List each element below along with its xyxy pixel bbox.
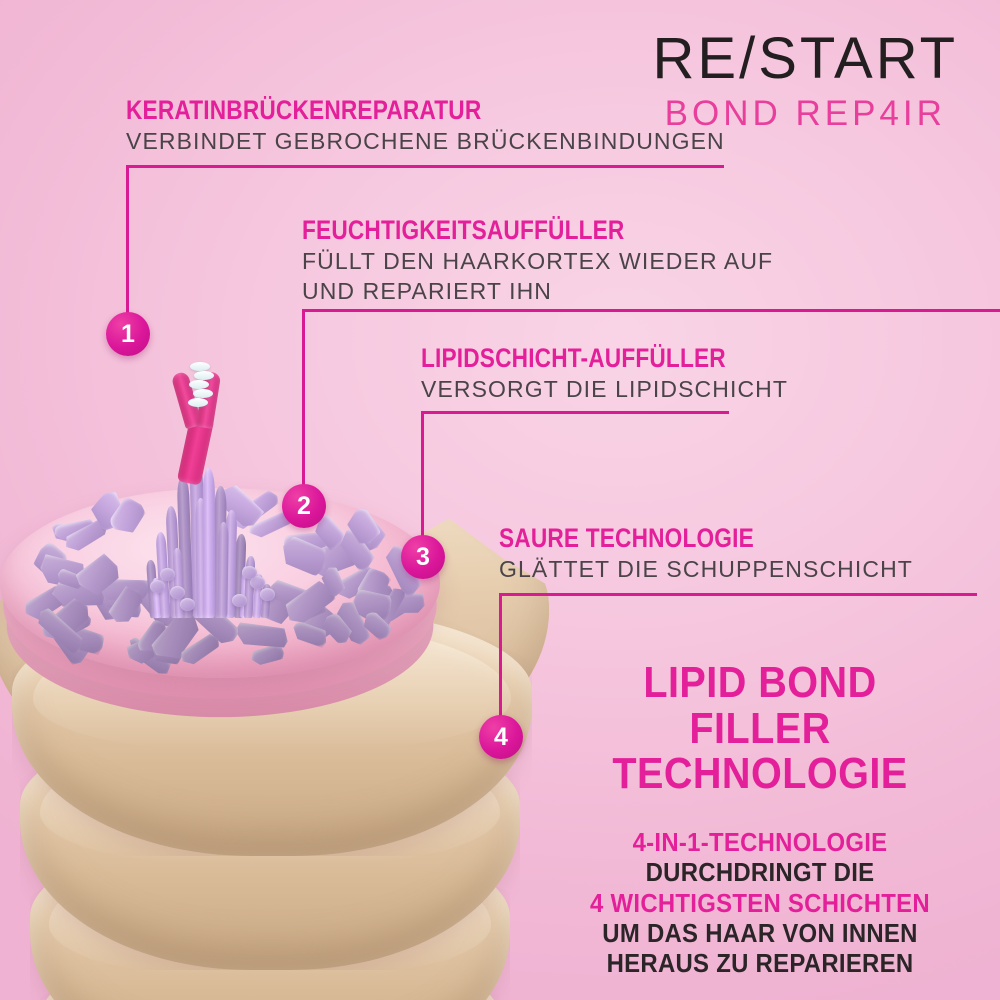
marker-1-number: 1	[121, 320, 135, 349]
keratin-fiber	[203, 468, 216, 618]
bottom-sub-line-1: 4-IN-1-TECHNOLOGIE	[576, 827, 944, 857]
bottom-heading-line-2: TECHNOLOGIE	[580, 751, 940, 797]
keratin-fiber	[217, 522, 228, 618]
bottom-text-block: LIPID BOND FILLER TECHNOLOGIE 4-IN-1-TEC…	[560, 660, 960, 978]
logo-tagline: BOND REP4IR	[653, 96, 958, 131]
marker-1[interactable]: 1	[106, 312, 150, 356]
callout-1-title: KERATINBRÜCKENREPARATUR	[126, 96, 629, 125]
callout-4-title: SAURE TECHNOLOGIE	[499, 524, 847, 553]
bottom-sub-line-5: HERAUS ZU REPARIEREN	[576, 948, 944, 978]
callout-3-desc-line-1: VERSORGT DIE LIPIDSCHICHT	[421, 376, 788, 403]
callout-2-desc-line-2: UND REPARIERT IHN	[302, 278, 773, 305]
callout-2: FEUCHTIGKEITSAUFFÜLLER FÜLLT DEN HAARKOR…	[302, 216, 773, 305]
callout-3-title: LIPIDSCHICHT-AUFFÜLLER	[421, 344, 729, 373]
callout-4-desc-line-1: GLÄTTET DIE SCHUPPENSCHICHT	[499, 556, 913, 583]
helix-bead	[190, 362, 210, 371]
marker-4-number: 4	[494, 723, 508, 752]
leader-line-3	[421, 411, 731, 535]
keratin-nodule	[260, 588, 275, 601]
keratin-nodule	[160, 568, 175, 581]
marker-3-number: 3	[416, 543, 430, 572]
spacer	[560, 797, 960, 827]
logo-wordmark: RE/START	[653, 30, 958, 88]
infographic-canvas: RE/START BOND REP4IR KERATINBRÜCKENREPAR…	[0, 0, 1000, 1000]
keratin-nodule	[180, 598, 195, 611]
broken-keratin-bond	[150, 360, 260, 490]
cortex-disc-stack	[0, 438, 460, 758]
marker-3[interactable]: 3	[401, 535, 445, 579]
marker-2-number: 2	[297, 492, 311, 521]
brand-logo: RE/START BOND REP4IR	[653, 30, 958, 131]
callout-3: LIPIDSCHICHT-AUFFÜLLER VERSORGT DIE LIPI…	[421, 344, 788, 403]
helix-bead	[194, 371, 214, 380]
helix-bead	[193, 389, 213, 398]
keratin-nodule	[150, 580, 165, 593]
marker-4[interactable]: 4	[479, 715, 523, 759]
bottom-sub-line-2: DURCHDRINGT DIE	[576, 857, 944, 887]
keratin-nodule	[242, 566, 257, 579]
callout-2-desc-line-1: FÜLLT DEN HAARKORTEX WIEDER AUF	[302, 248, 773, 275]
marker-2[interactable]: 2	[282, 484, 326, 528]
callout-1: KERATINBRÜCKENREPARATUR VERBINDET GEBROC…	[126, 96, 725, 155]
helix-bead	[189, 380, 209, 389]
callout-4: SAURE TECHNOLOGIE GLÄTTET DIE SCHUPPENSC…	[499, 524, 913, 583]
callout-2-title: FEUCHTIGKEITSAUFFÜLLER	[302, 216, 698, 245]
keratin-nodule	[232, 594, 247, 607]
cortex-cell	[234, 622, 289, 648]
bottom-heading-line-1: LIPID BOND FILLER	[580, 660, 940, 752]
bottom-sub-line-4: UM DAS HAAR VON INNEN	[576, 918, 944, 948]
bottom-sub-line-3: 4 WICHTIGSTEN SCHICHTEN	[576, 888, 944, 918]
callout-1-desc-line-1: VERBINDET GEBROCHENE BRÜCKENBINDUNGEN	[126, 128, 725, 155]
helix-bead	[188, 398, 208, 407]
keratin-nodule	[170, 586, 185, 599]
